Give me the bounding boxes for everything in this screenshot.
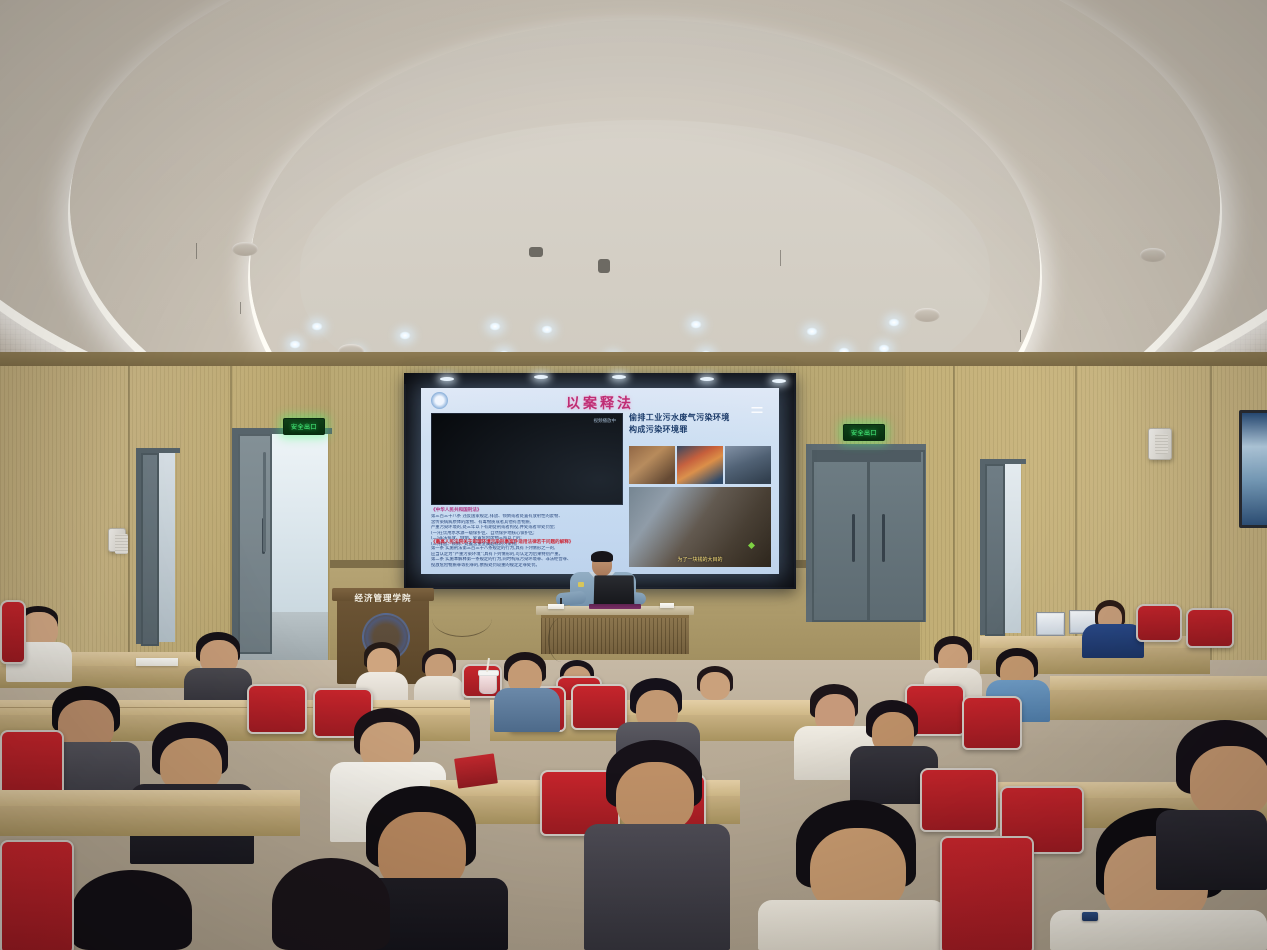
student-torso-front [758,900,946,950]
door-right-right-leaf[interactable] [868,450,925,622]
door-left-far[interactable] [141,453,159,646]
chair-empty[interactable] [247,684,307,734]
lecture-hall-photo: 安全出口 安全出口 以案释法 ⚌ 视频播放中 《中华人民共和国刑法》 第三百三十… [0,0,1267,950]
presentation-slide: 以案释法 ⚌ 视频播放中 《中华人民共和国刑法》 第三百三十八条 违反国家规定,… [421,388,779,574]
screen-accent-light [440,377,454,381]
student-hair-front [272,858,390,950]
projection-screen-topbar [404,373,792,384]
student-laptop-1[interactable] [1036,612,1065,636]
exit-sign-left-label: 安全出口 [291,422,317,431]
desk-front-left [0,806,300,836]
chair-empty[interactable] [1186,608,1234,648]
ceiling-wire [240,302,241,314]
ceiling-speaker-icon [232,242,258,256]
wall-speaker-right [1148,428,1172,460]
desk-front-right-b [1050,690,1267,720]
wall-seam [128,352,130,682]
slide-thumbnail-3 [725,446,771,484]
screen-accent-light [534,375,548,379]
screen-accent-light [772,379,786,383]
wall-monitor-right[interactable] [1239,410,1267,528]
ceiling-sensor-icon [529,247,543,257]
slide-heading-line2: 构成污染环境罪 [629,424,769,436]
chair-empty[interactable] [1136,604,1182,642]
floor-cable [432,600,492,637]
wall-speaker-left [108,528,126,552]
student-hair-front [72,870,192,950]
slide-thumbnail-1 [629,446,675,484]
chair-empty[interactable] [920,768,998,832]
chair-left-edge[interactable] [0,600,26,664]
slide-photo-caption: 为了一块钱的大目的 [629,556,771,563]
presenter-shoulder-badge [578,582,584,587]
exit-sign-right: 安全出口 [843,424,885,441]
wall-monitor-screen [1242,413,1267,525]
slide-video-panel: 视频播放中 [431,413,623,505]
ceiling-speaker-icon [914,308,940,322]
student-torso [494,688,560,732]
smartphone[interactable] [1082,912,1098,921]
slide-thumbnail-strip [629,446,771,484]
slide-leaf-icon [748,542,755,549]
student-torso-front [1156,810,1267,890]
chair-front-left-edge[interactable] [0,840,74,950]
student-head-front [1190,746,1267,818]
desk-papers [548,604,564,609]
desk-row-right-b [1050,676,1267,690]
desk-row-front-left [0,790,300,806]
slide-title: 以案释法 [421,393,779,413]
ceiling-projector-mount [598,259,610,273]
student-torso-front [584,824,730,950]
screen-accent-light [612,375,626,379]
downlight [541,325,553,334]
door-right-left-leaf[interactable] [812,450,869,622]
presenter-hair [591,551,613,562]
door-left-open[interactable] [238,434,272,654]
exit-sign-left: 安全出口 [283,418,325,435]
wall-seam [953,352,955,652]
downlight [289,340,301,349]
exit-sign-right-label: 安全出口 [851,428,877,437]
presenter-laptop-base[interactable] [589,604,641,609]
slide-video-label: 视频播放中 [594,418,617,424]
slide-heading-line1: 偷排工业污水废气污染环境 [629,412,769,424]
desk-papers [660,603,674,608]
downlight [399,331,411,340]
ceiling-speaker-icon [1140,248,1166,262]
slide-right-column: 偷排工业污水废气污染环境 构成污染环境罪 [629,412,769,436]
screen-accent-light [700,377,714,381]
ceiling-wire [1020,330,1021,342]
door-transom-right [812,450,921,462]
desk-cable [548,618,575,662]
chair-empty[interactable] [571,684,627,730]
slide-thumbnail-2 [677,446,723,484]
door-push-bar-left[interactable] [263,452,266,552]
chair-front-right[interactable] [940,836,1034,950]
student-torso [1082,624,1144,658]
ceiling-wire [780,250,781,266]
student-head-front [616,762,694,832]
red-notebook [454,753,498,788]
desk-papers [136,658,178,666]
wall-top-trim [0,352,1267,366]
door-right-far[interactable] [985,464,1005,636]
ceiling-wire [196,243,197,259]
downlight [888,318,900,327]
student-head [700,672,730,700]
downlight [489,322,501,331]
podium-institution-label: 经济管理学院 [341,592,425,604]
downlight [311,322,323,331]
downlight [690,320,702,329]
slide-main-photo: 为了一块钱的大目的 [629,487,771,567]
drink-cup-lid [478,670,499,676]
chair-empty[interactable] [962,696,1022,750]
downlight [806,327,818,336]
